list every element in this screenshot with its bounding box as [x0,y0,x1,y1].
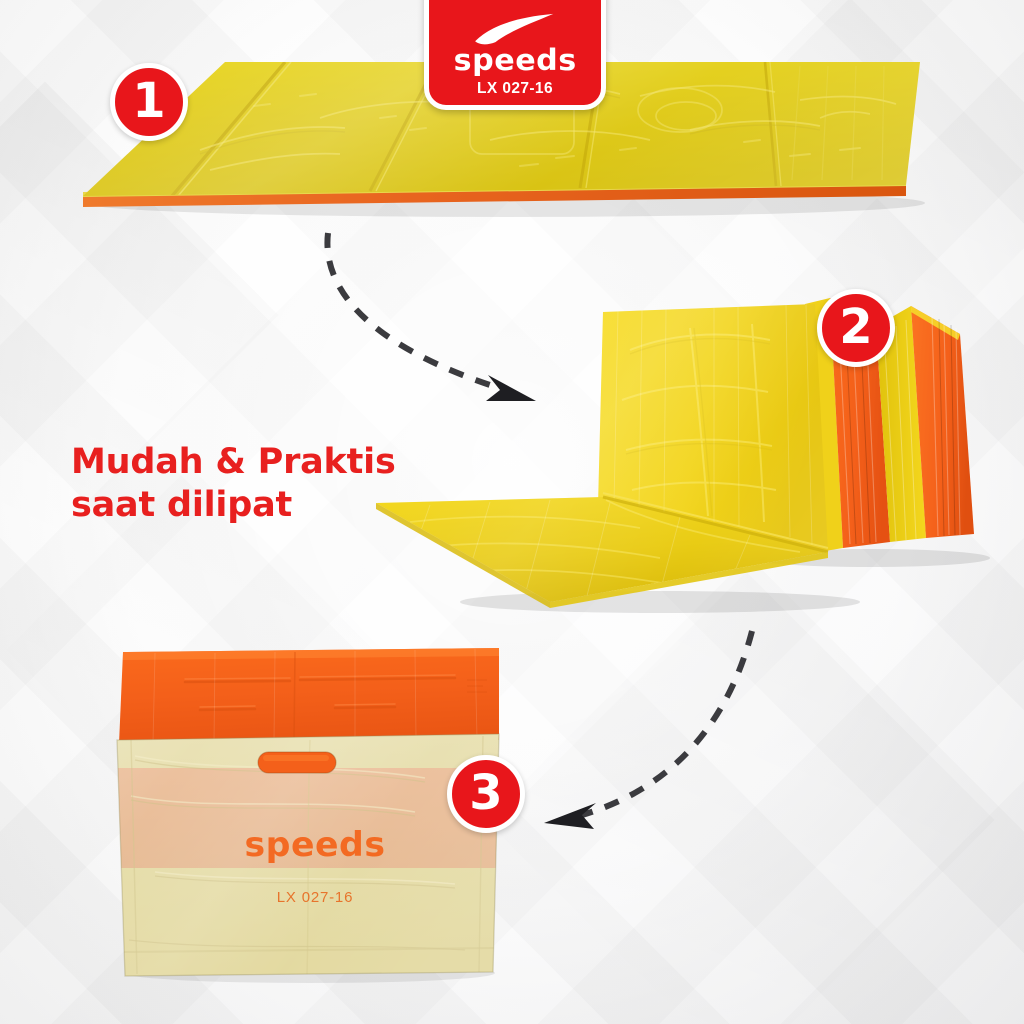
brand-name: speeds [453,46,576,75]
headline-line-2: saat dilipat [71,484,396,527]
brand-model-code: LX 027-16 [477,81,553,97]
arrow-step2-to-step3 [520,615,790,845]
step-badge-1: 1 [110,63,188,141]
step-badge-3-number: 3 [469,769,502,817]
speeds-swoosh-icon [472,11,558,45]
step-badge-3: 3 [447,755,525,833]
arrow-step1-to-step2 [300,215,570,425]
step-badge-2: 2 [817,289,895,367]
bag-brand-text: speeds [244,828,385,862]
step-badge-1-number: 1 [132,77,165,125]
product-infographic: speeds LX 027-16 Mudah & Praktis saat di… [0,0,1024,1024]
brand-badge: speeds LX 027-16 [424,0,606,110]
carry-handle-slot-icon [258,752,336,773]
headline-line-1: Mudah & Praktis [71,442,396,482]
bag-model-text: LX 027-16 [277,890,353,905]
step-badge-2-number: 2 [839,303,872,351]
headline-text: Mudah & Praktis saat dilipat [71,441,396,526]
